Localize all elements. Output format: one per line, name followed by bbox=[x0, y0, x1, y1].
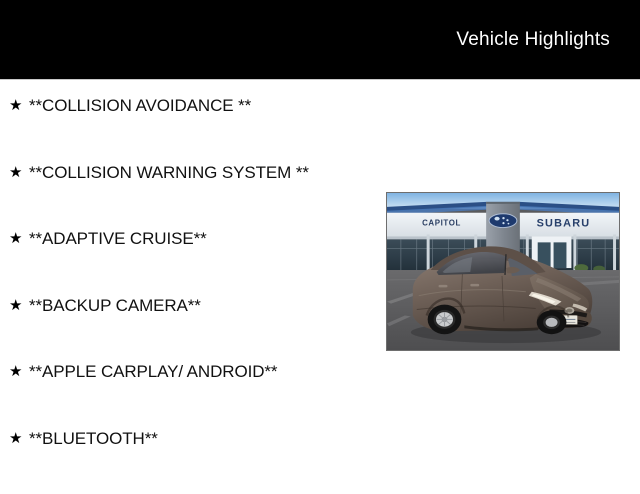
vehicle-highlights-list: ★ **COLLISION AVOIDANCE ** ★ **COLLISION… bbox=[0, 95, 380, 494]
page-header: Vehicle Highlights bbox=[0, 0, 640, 79]
svg-text:SUBARU: SUBARU bbox=[537, 218, 591, 230]
list-item: ★ **APPLE CARPLAY/ ANDROID** bbox=[0, 361, 380, 428]
svg-text:CAPITOL: CAPITOL bbox=[422, 219, 461, 228]
highlight-label: **COLLISION AVOIDANCE ** bbox=[29, 95, 380, 116]
list-item: ★ **BACKUP CAMERA** bbox=[0, 295, 380, 362]
highlight-label: **BLUETOOTH** bbox=[29, 428, 380, 449]
list-item: ★ **COLLISION AVOIDANCE ** bbox=[0, 95, 380, 162]
highlight-label: **COLLISION WARNING SYSTEM ** bbox=[29, 162, 380, 183]
star-icon: ★ bbox=[9, 428, 29, 449]
highlight-label: **BACKUP CAMERA** bbox=[29, 295, 380, 316]
page-title: Vehicle Highlights bbox=[456, 29, 610, 51]
star-icon: ★ bbox=[9, 295, 29, 316]
vehicle-photo-image: CAPITOL SUBARU bbox=[387, 193, 619, 350]
list-item: ★ **ADAPTIVE CRUISE** bbox=[0, 228, 380, 295]
list-item: ★ **COLLISION WARNING SYSTEM ** bbox=[0, 162, 380, 229]
highlight-label: **APPLE CARPLAY/ ANDROID** bbox=[29, 361, 380, 382]
star-icon: ★ bbox=[9, 228, 29, 249]
star-icon: ★ bbox=[9, 95, 29, 116]
list-item: ★ **BLUETOOTH** bbox=[0, 428, 380, 494]
star-icon: ★ bbox=[9, 361, 29, 382]
vehicle-photo[interactable]: CAPITOL SUBARU bbox=[386, 192, 620, 351]
header-divider bbox=[0, 79, 640, 80]
star-icon: ★ bbox=[9, 162, 29, 183]
highlight-label: **ADAPTIVE CRUISE** bbox=[29, 228, 380, 249]
